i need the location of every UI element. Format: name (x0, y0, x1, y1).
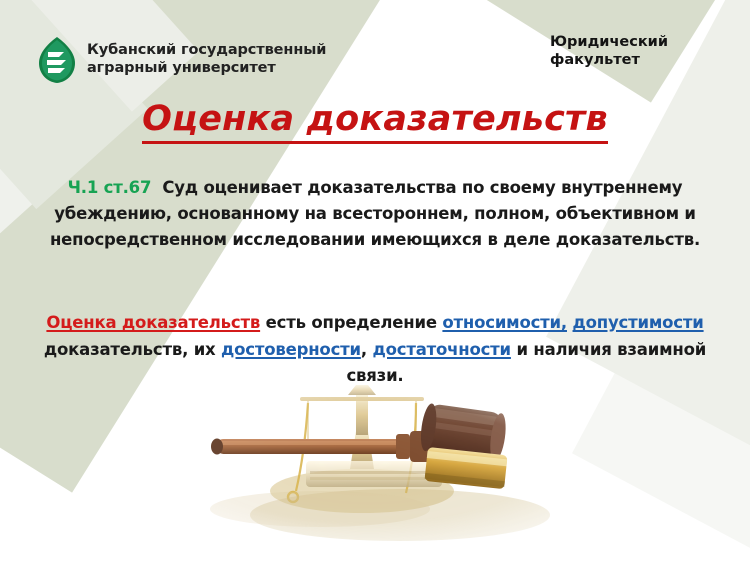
slide-title: Оценка доказательств (0, 99, 750, 139)
definition-mid-1: доказательств, их (44, 340, 221, 359)
sage-corner-block (490, 231, 750, 561)
university-logo-block: Кубанский государственный аграрный униве… (37, 36, 326, 84)
definition-connector: есть определение (260, 313, 442, 332)
university-name: Кубанский государственный аграрный униве… (87, 42, 326, 77)
slide-header: Кубанский государственный аграрный униве… (0, 0, 750, 92)
article-spacer (151, 178, 162, 197)
presentation-slide: Кубанский государственный аграрный униве… (0, 0, 750, 561)
keyword-relevance: относимости, (442, 313, 567, 332)
article-paragraph: Ч.1 ст.67 Суд оценивает доказательства п… (38, 175, 712, 253)
kubgau-leaf-logo-icon (37, 36, 77, 84)
keyword-sufficiency: достаточности (373, 340, 511, 359)
slide-title-text: Оценка доказательств (142, 99, 608, 144)
keyword-reliability: достоверности (221, 340, 361, 359)
keyword-admissibility: допустимости (573, 313, 704, 332)
definition-term: Оценка доказательств (46, 313, 260, 332)
definition-mid-2: , (361, 340, 373, 359)
faculty-label: Юридический факультет (550, 33, 668, 69)
article-reference: Ч.1 ст.67 (68, 178, 152, 197)
definition-paragraph: Оценка доказательств есть определение от… (28, 310, 722, 390)
